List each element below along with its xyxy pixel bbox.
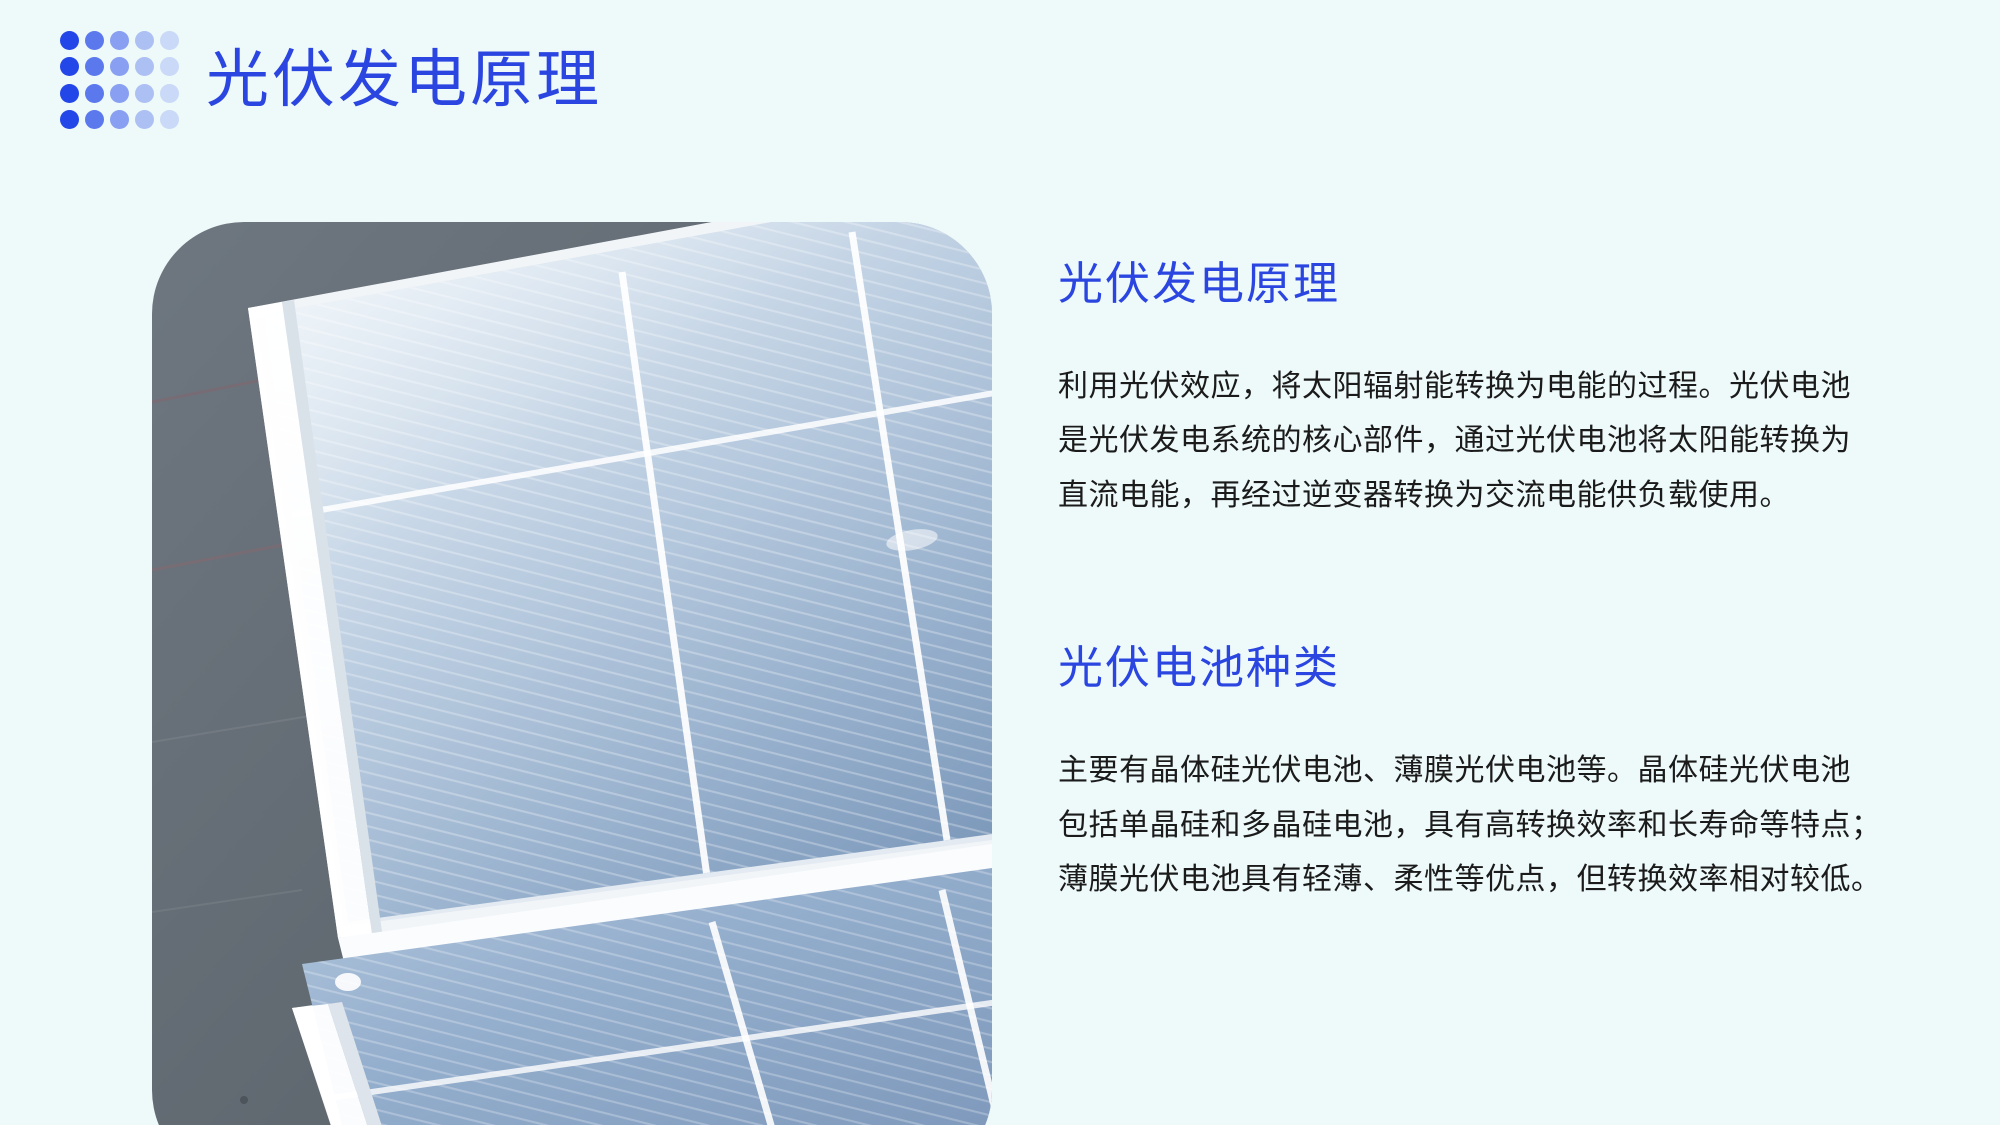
section-heading: 光伏发电原理 (1058, 260, 1858, 310)
section-body: 主要有晶体硅光伏电池、薄膜光伏电池等。晶体硅光伏电池 包括单晶硅和多晶硅电池，具… (1058, 744, 1858, 909)
body-line: 薄膜光伏电池具有轻薄、柔性等优点，但转换效率相对较低。 (1058, 853, 1858, 908)
body-line: 利用光伏效应，将太阳辐射能转换为电能的过程。光伏电池 (1058, 360, 1858, 415)
body-line: 直流电能，再经过逆变器转换为交流电能供负载使用。 (1058, 469, 1858, 524)
section-principle: 光伏发电原理 利用光伏效应，将太阳辐射能转换为电能的过程。光伏电池 是光伏发电系… (1058, 260, 1858, 524)
body-line: 是光伏发电系统的核心部件，通过光伏电池将太阳能转换为 (1058, 414, 1858, 469)
page-title: 光伏发电原理 (206, 49, 602, 112)
section-cell-types: 光伏电池种类 主要有晶体硅光伏电池、薄膜光伏电池等。晶体硅光伏电池 包括单晶硅和… (1058, 644, 1858, 908)
slide-header: 光伏发电原理 (60, 30, 602, 130)
dot-grid-icon (60, 30, 178, 130)
body-line: 主要有晶体硅光伏电池、薄膜光伏电池等。晶体硅光伏电池 (1058, 744, 1858, 799)
content-column: 光伏发电原理 利用光伏效应，将太阳辐射能转换为电能的过程。光伏电池 是光伏发电系… (1058, 260, 1858, 908)
section-heading: 光伏电池种类 (1058, 644, 1858, 694)
body-line: 包括单晶硅和多晶硅电池，具有高转换效率和长寿命等特点； (1058, 799, 1858, 854)
solar-panel-photo (152, 222, 992, 1125)
slide-root: 光伏发电原理 (0, 0, 2000, 1125)
section-body: 利用光伏效应，将太阳辐射能转换为电能的过程。光伏电池 是光伏发电系统的核心部件，… (1058, 360, 1858, 525)
solar-panel-illustration (152, 222, 992, 1125)
